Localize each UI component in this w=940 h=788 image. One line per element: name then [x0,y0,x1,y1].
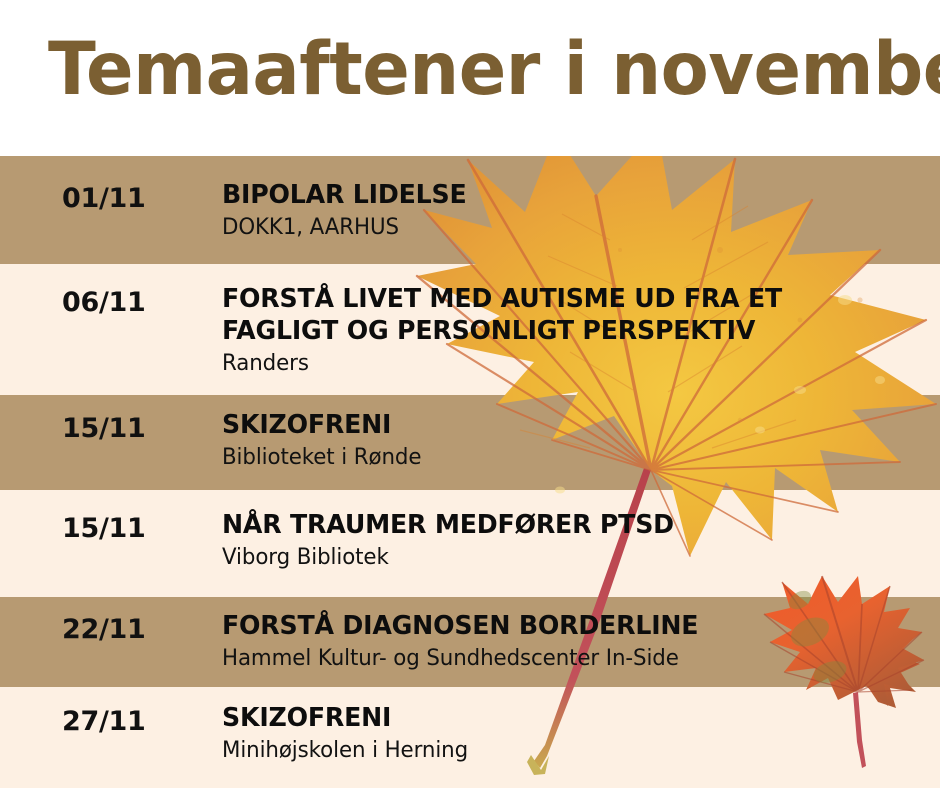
event-body: SKIZOFRENI Biblioteket i Rønde [222,409,940,471]
event-row[interactable]: 15/11 NÅR TRAUMER MEDFØRER PTSD Viborg B… [0,490,940,597]
event-body: FORSTÅ LIVET MED AUTISME UD FRA ET FAGLI… [222,283,940,377]
event-venue: Viborg Bibliotek [222,544,918,571]
event-date: 15/11 [62,513,146,544]
event-date: 22/11 [62,614,146,645]
event-title: FORSTÅ DIAGNOSEN BORDERLINE [222,610,918,642]
event-date: 01/11 [62,183,146,214]
poster-canvas: Temaaftener i november 01/11 BIPOLAR LID… [0,0,940,788]
event-row[interactable]: 06/11 FORSTÅ LIVET MED AUTISME UD FRA ET… [0,264,940,395]
event-title: NÅR TRAUMER MEDFØRER PTSD [222,509,918,541]
event-venue: Hammel Kultur- og Sundhedscenter In-Side [222,645,918,672]
event-title: SKIZOFRENI [222,409,918,441]
event-venue: DOKK1, AARHUS [222,214,918,241]
event-row[interactable]: 22/11 FORSTÅ DIAGNOSEN BORDERLINE Hammel… [0,597,940,687]
event-venue: Biblioteket i Rønde [222,444,918,471]
event-venue: Randers [222,350,918,377]
event-date: 27/11 [62,706,146,737]
event-body: FORSTÅ DIAGNOSEN BORDERLINE Hammel Kultu… [222,610,940,672]
event-title: SKIZOFRENI [222,702,918,734]
event-date: 15/11 [62,413,146,444]
event-row[interactable]: 01/11 BIPOLAR LIDELSE DOKK1, AARHUS [0,156,940,264]
event-body: BIPOLAR LIDELSE DOKK1, AARHUS [222,179,940,241]
event-venue: Minihøjskolen i Herning [222,737,918,764]
event-row[interactable]: 27/11 SKIZOFRENI Minihøjskolen i Herning [0,687,940,788]
event-body: SKIZOFRENI Minihøjskolen i Herning [222,702,940,764]
page-title: Temaaftener i november [48,26,940,114]
event-title: FORSTÅ LIVET MED AUTISME UD FRA ET FAGLI… [222,283,918,347]
event-date: 06/11 [62,287,146,318]
event-title: BIPOLAR LIDELSE [222,179,918,211]
event-row[interactable]: 15/11 SKIZOFRENI Biblioteket i Rønde [0,395,940,490]
poster-header: Temaaftener i november [0,0,940,156]
event-body: NÅR TRAUMER MEDFØRER PTSD Viborg Bibliot… [222,509,940,571]
